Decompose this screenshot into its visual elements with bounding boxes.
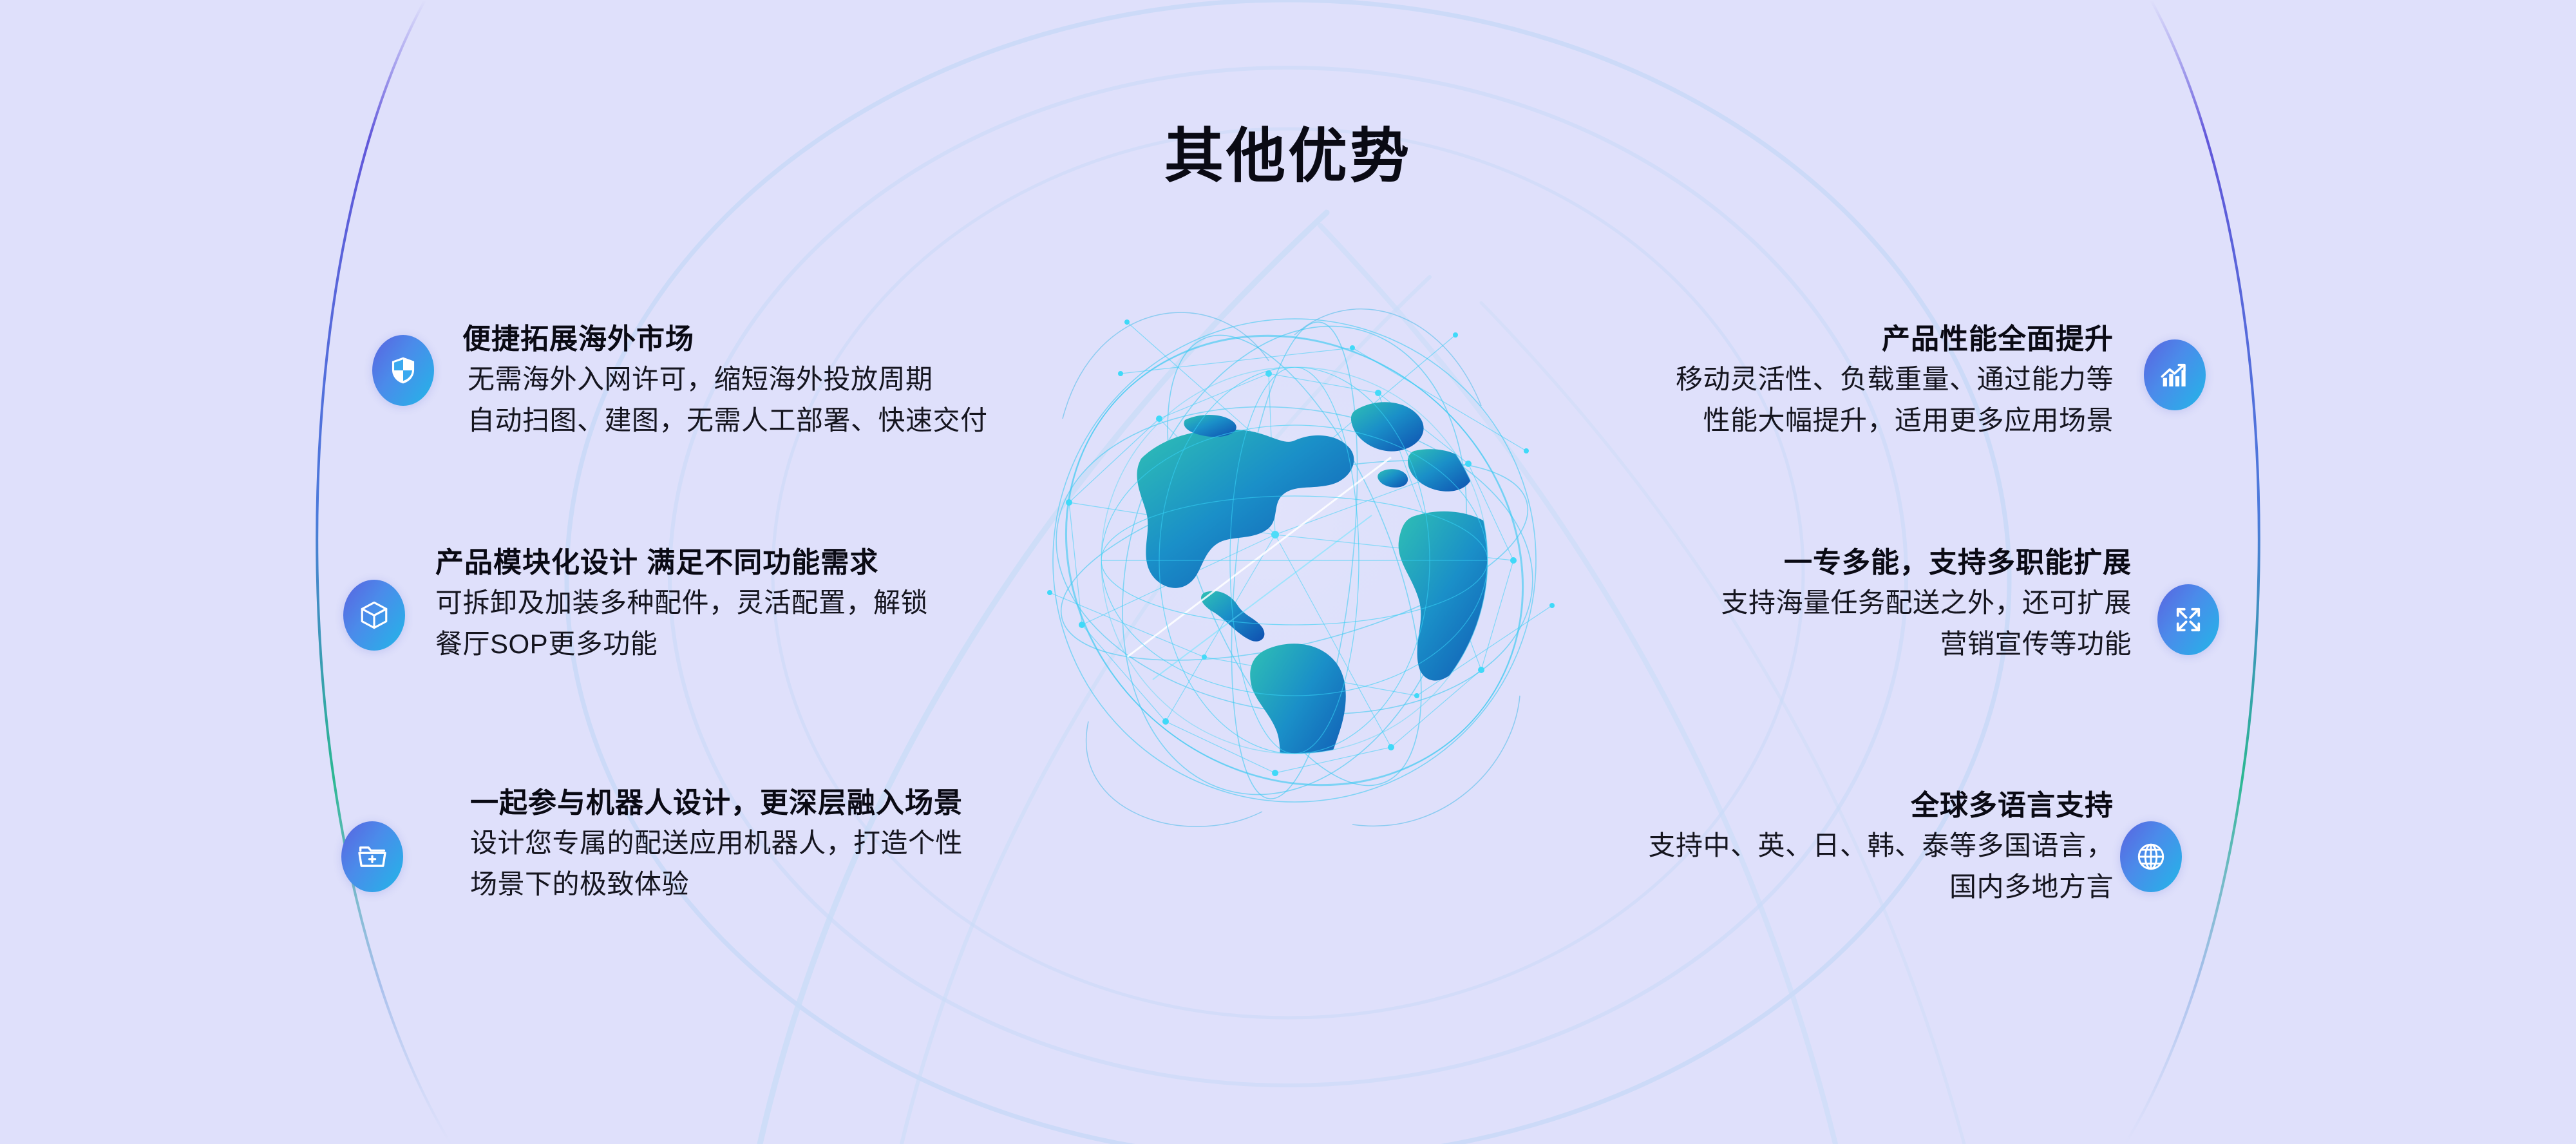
feature-performance-line-1: 移动灵活性、负载重量、通过能力等 xyxy=(1676,359,2114,400)
feature-codesign-line-2: 场景下的极致体验 xyxy=(470,864,963,905)
feature-multirole-line-2: 营销宣传等功能 xyxy=(1721,624,2132,665)
feature-overseas-line-1: 无需海外入网许可，缩短海外投放周期 xyxy=(462,359,988,400)
feature-codesign-title: 一起参与机器人设计，更深层融入场景 xyxy=(470,785,963,823)
feature-multirole-title: 一专多能，支持多职能扩展 xyxy=(1721,544,2132,582)
expand-arrows-icon-badge[interactable] xyxy=(2157,584,2219,655)
shield-icon xyxy=(387,354,419,386)
feature-overseas-line-2: 自动扫图、建图，无需人工部署、快速交付 xyxy=(462,400,988,441)
feature-overseas: 便捷拓展海外市场 无需海外入网许可，缩短海外投放周期 自动扫图、建图，无需人工部… xyxy=(462,321,988,441)
globe-icon xyxy=(2135,841,2167,873)
globe-icon-badge[interactable] xyxy=(2120,821,2182,892)
feature-performance: 产品性能全面提升 移动灵活性、负载重量、通过能力等 性能大幅提升，适用更多应用场… xyxy=(1676,321,2114,441)
growth-chart-icon-badge[interactable] xyxy=(2144,339,2206,410)
feature-modular-title: 产品模块化设计 满足不同功能需求 xyxy=(435,544,928,582)
feature-language-title: 全球多语言支持 xyxy=(1648,787,2114,825)
feature-multirole: 一专多能，支持多职能扩展 支持海量任务配送之外，还可扩展 营销宣传等功能 xyxy=(1721,544,2132,665)
cube-icon xyxy=(358,599,390,631)
feature-modular-line-1: 可拆卸及加装多种配件，灵活配置，解锁 xyxy=(435,582,928,624)
feature-performance-line-2: 性能大幅提升，适用更多应用场景 xyxy=(1676,400,2114,441)
feature-language: 全球多语言支持 支持中、英、日、韩、泰等多国语言， 国内多地方言 xyxy=(1648,787,2114,908)
feature-language-line-2: 国内多地方言 xyxy=(1648,866,2114,908)
growth-chart-icon xyxy=(2159,359,2191,391)
feature-performance-title: 产品性能全面提升 xyxy=(1676,321,2114,359)
feature-overseas-title: 便捷拓展海外市场 xyxy=(462,321,988,359)
globe-network-illustration xyxy=(992,258,1597,863)
feature-modular: 产品模块化设计 满足不同功能需求 可拆卸及加装多种配件，灵活配置，解锁 餐厅SO… xyxy=(435,544,928,665)
cube-icon-badge[interactable] xyxy=(343,580,405,651)
feature-codesign: 一起参与机器人设计，更深层融入场景 设计您专属的配送应用机器人，打造个性 场景下… xyxy=(470,785,963,905)
folder-plus-icon xyxy=(356,841,388,873)
page-title: 其他优势 xyxy=(0,108,2576,194)
shield-icon-badge[interactable] xyxy=(372,335,434,406)
folder-plus-icon-badge[interactable] xyxy=(341,821,403,892)
expand-arrows-icon xyxy=(2172,604,2204,636)
feature-multirole-line-1: 支持海量任务配送之外，还可扩展 xyxy=(1721,582,2132,624)
feature-modular-line-2: 餐厅SOP更多功能 xyxy=(435,624,928,665)
feature-codesign-line-1: 设计您专属的配送应用机器人，打造个性 xyxy=(470,823,963,864)
feature-language-line-1: 支持中、英、日、韩、泰等多国语言， xyxy=(1648,825,2114,866)
